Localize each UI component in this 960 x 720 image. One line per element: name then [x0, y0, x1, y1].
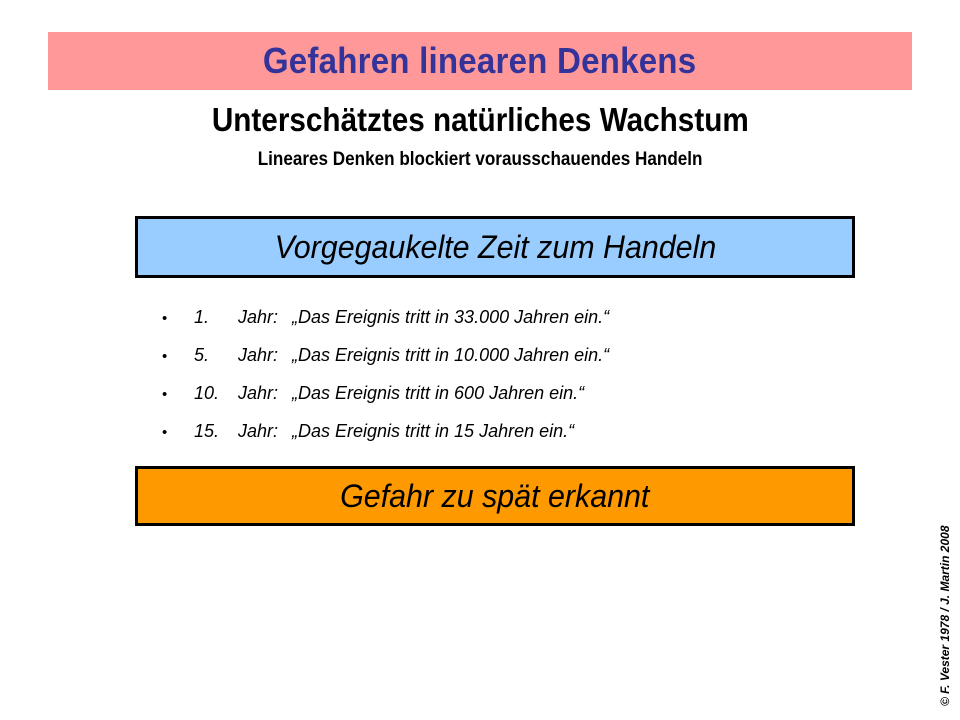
copyright-container: © F. Vester 1978 / J. Martin 2008: [930, 420, 960, 720]
bullet-point-icon: •: [158, 300, 194, 338]
bullet-year: 15.: [194, 412, 238, 450]
bullet-quote: „Das Ereignis tritt in 15 Jahren ein.“: [292, 412, 858, 450]
callout-orange-text: Gefahr zu spät erkannt: [340, 480, 649, 512]
slide-canvas: Gefahren linearen Denkens Unterschätztes…: [0, 0, 960, 720]
bullet-quote: „Das Ereignis tritt in 10.000 Jahren ein…: [292, 336, 858, 374]
bullet-point-icon: •: [158, 414, 194, 452]
title-banner: Gefahren linearen Denkens: [48, 32, 912, 90]
headline: Unterschätztes natürliches Wachstum: [0, 103, 960, 138]
list-item: • 15. Jahr: „Das Ereignis tritt in 15 Ja…: [158, 412, 858, 450]
bullet-point-icon: •: [158, 338, 194, 376]
bullet-label: Jahr:: [238, 298, 292, 336]
callout-blue-text: Vorgegaukelte Zeit zum Handeln: [274, 231, 716, 263]
bullet-label: Jahr:: [238, 336, 292, 374]
bullet-year: 10.: [194, 374, 238, 412]
bullet-label: Jahr:: [238, 412, 292, 450]
bullet-year: 5.: [194, 336, 238, 374]
copyright-notice: © F. Vester 1978 / J. Martin 2008: [938, 526, 952, 707]
page-title: Gefahren linearen Denkens: [263, 43, 696, 79]
list-item: • 10. Jahr: „Das Ereignis tritt in 600 J…: [158, 374, 858, 412]
subheadline-text: Lineares Denken blockiert vorausschauend…: [258, 150, 703, 170]
bullet-list: • 1. Jahr: „Das Ereignis tritt in 33.000…: [158, 298, 858, 450]
bullet-year: 1.: [194, 298, 238, 336]
bullet-label: Jahr:: [238, 374, 292, 412]
bullet-quote: „Das Ereignis tritt in 33.000 Jahren ein…: [292, 298, 858, 336]
list-item: • 5. Jahr: „Das Ereignis tritt in 10.000…: [158, 336, 858, 374]
callout-box-orange: Gefahr zu spät erkannt: [135, 466, 855, 526]
headline-text: Unterschätztes natürliches Wachstum: [212, 103, 749, 138]
bullet-quote: „Das Ereignis tritt in 600 Jahren ein.“: [292, 374, 858, 412]
callout-box-blue: Vorgegaukelte Zeit zum Handeln: [135, 216, 855, 278]
bullet-point-icon: •: [158, 376, 194, 414]
list-item: • 1. Jahr: „Das Ereignis tritt in 33.000…: [158, 298, 858, 336]
subheadline: Lineares Denken blockiert vorausschauend…: [0, 150, 960, 170]
